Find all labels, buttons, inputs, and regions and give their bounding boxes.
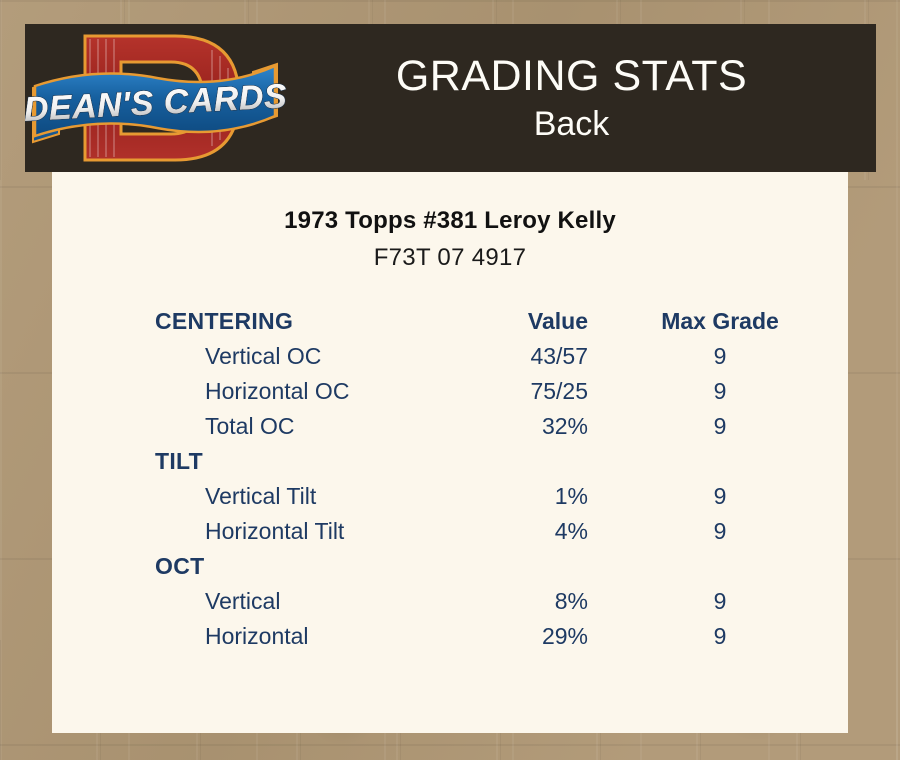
section-header-row: TILT — [52, 444, 848, 479]
column-header-max-grade: Max Grade — [622, 304, 848, 339]
table-row: Vertical Tilt1%9 — [52, 479, 848, 514]
stat-value: 1% — [422, 479, 622, 514]
card-serial-number: F73T 07 4917 — [52, 244, 848, 272]
stat-max-grade: 9 — [622, 584, 848, 619]
stat-value: 43/57 — [422, 339, 622, 374]
table-body: Vertical OC43/579Horizontal OC75/259Tota… — [52, 339, 848, 654]
card-title: 1973 Topps #381 Leroy Kelly — [52, 207, 848, 235]
stat-value: 75/25 — [422, 374, 622, 409]
section-header-label: TILT — [52, 444, 848, 479]
table-row: Vertical OC43/579 — [52, 339, 848, 374]
grading-stats-table: CENTERING Value Max Grade Vertical OC43/… — [52, 304, 848, 654]
table-row: Vertical8%9 — [52, 584, 848, 619]
stat-label: Horizontal — [52, 619, 422, 654]
stat-value: 29% — [422, 619, 622, 654]
table-row: Total OC32%9 — [52, 409, 848, 444]
stat-label: Horizontal OC — [52, 374, 422, 409]
stat-max-grade: 9 — [622, 374, 848, 409]
stat-value: 32% — [422, 409, 622, 444]
section-header-label: OCT — [52, 549, 848, 584]
stats-panel: 1973 Topps #381 Leroy Kelly F73T 07 4917… — [52, 172, 848, 733]
table-row: Horizontal29%9 — [52, 619, 848, 654]
stat-label: Total OC — [52, 409, 422, 444]
stat-label: Vertical Tilt — [52, 479, 422, 514]
table-header: CENTERING Value Max Grade — [52, 304, 848, 339]
table-row: Horizontal Tilt4%9 — [52, 514, 848, 549]
stat-max-grade: 9 — [622, 514, 848, 549]
deans-cards-logo-icon: DEAN'S CARDS DEAN'S CARDS — [25, 24, 287, 172]
stat-label: Vertical OC — [52, 339, 422, 374]
page-title: GRADING STATS — [287, 51, 856, 101]
table-row: Horizontal OC75/259 — [52, 374, 848, 409]
header-titles: GRADING STATS Back — [287, 51, 876, 145]
header-bar: DEAN'S CARDS DEAN'S CARDS GRADING STATS … — [25, 24, 876, 172]
stat-label: Horizontal Tilt — [52, 514, 422, 549]
table-header-row: CENTERING Value Max Grade — [52, 304, 848, 339]
stat-max-grade: 9 — [622, 479, 848, 514]
section-header-row: OCT — [52, 549, 848, 584]
stat-max-grade: 9 — [622, 619, 848, 654]
stat-max-grade: 9 — [622, 409, 848, 444]
grading-stats-page: DEAN'S CARDS DEAN'S CARDS GRADING STATS … — [0, 0, 900, 760]
stat-max-grade: 9 — [622, 339, 848, 374]
deans-cards-logo[interactable]: DEAN'S CARDS DEAN'S CARDS — [25, 24, 287, 172]
column-header-value: Value — [422, 304, 622, 339]
page-subtitle: Back — [287, 103, 856, 145]
stat-value: 8% — [422, 584, 622, 619]
column-header-section: CENTERING — [52, 304, 422, 339]
stat-value: 4% — [422, 514, 622, 549]
stat-label: Vertical — [52, 584, 422, 619]
